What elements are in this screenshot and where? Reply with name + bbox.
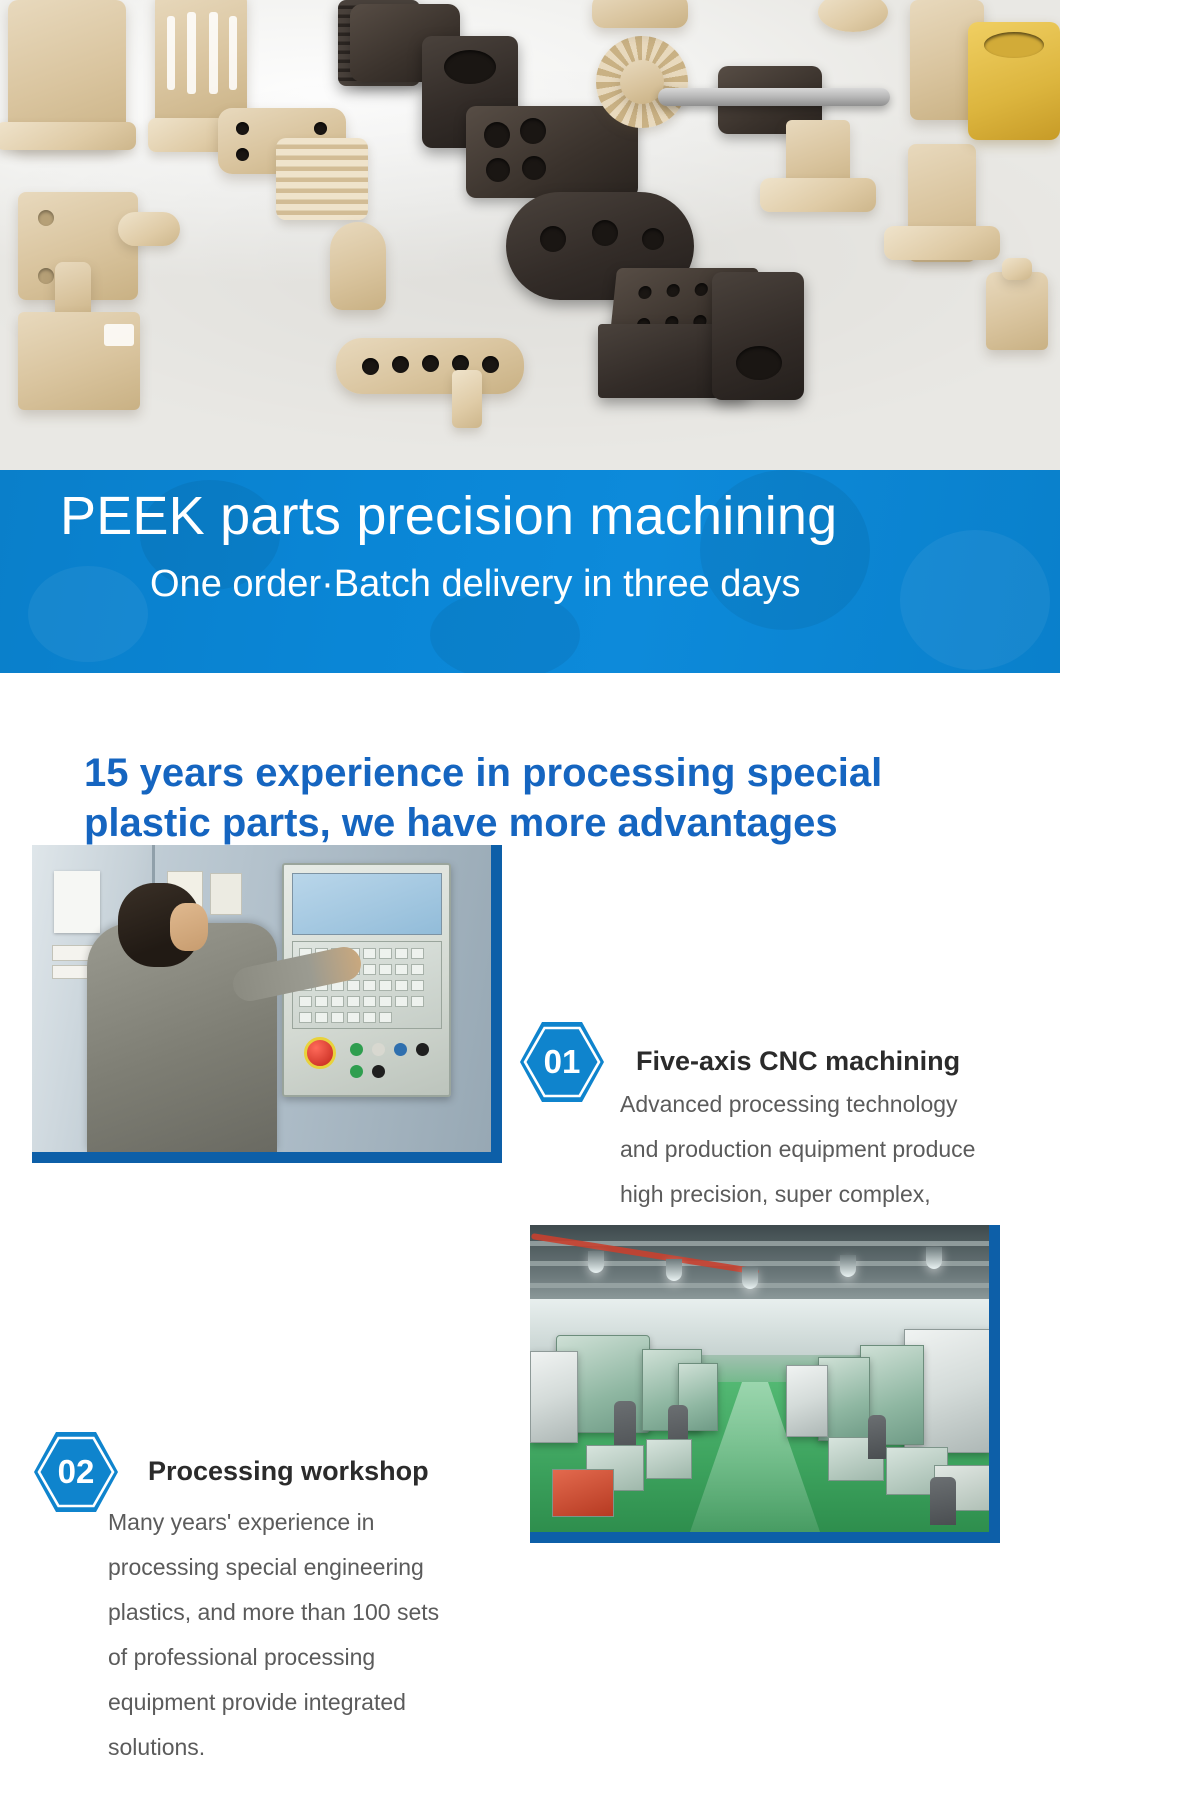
ceiling-beam-3	[530, 1283, 989, 1288]
product-detail-page: PEEK parts precision machining One order…	[0, 0, 1200, 1796]
banner-subtitle: One order·Batch delivery in three days	[150, 560, 1050, 608]
feature-02-body-line-5: equipment provide integrated	[108, 1680, 528, 1725]
cnc-black-button-2	[372, 1065, 385, 1078]
banner-ghost-1	[28, 566, 148, 662]
feature-02-body-line-3: plastics, and more than 100 sets	[108, 1590, 528, 1635]
cnc-blue-button	[394, 1043, 407, 1056]
feature-02-body-line-1: Many years' experience in	[108, 1500, 528, 1545]
part-roller-shaft	[658, 88, 890, 106]
workshop-machine-l2	[530, 1351, 578, 1443]
feature-01-number: 01	[518, 1018, 606, 1106]
workshop-cart-red	[552, 1469, 614, 1517]
ceiling-lamp-5	[926, 1247, 942, 1269]
feature-02-body-line-2: processing special engineering	[108, 1545, 528, 1590]
ceiling-lamp-2	[666, 1259, 682, 1281]
part-flanged-bushing-b-flange	[884, 226, 1000, 260]
photo1-bottom-bar	[32, 1152, 502, 1163]
cnc-screen	[292, 873, 442, 935]
workshop-machine-r4	[786, 1365, 828, 1437]
cnc-operator-face	[170, 903, 208, 951]
photo2-right-bar	[989, 1225, 1000, 1543]
feature-02-number: 02	[32, 1428, 120, 1516]
cnc-black-button	[416, 1043, 429, 1056]
part-cap-small-top	[1002, 258, 1032, 280]
part-spool-flange	[0, 122, 136, 150]
feature-01-title: Five-axis CNC machining	[636, 1046, 960, 1077]
feature-01-body-line-2: and production equipment produce	[620, 1127, 1040, 1172]
workshop-worker-r1	[930, 1477, 956, 1525]
feature-02-badge: 02	[32, 1428, 120, 1516]
feature-01-body-line-3: high precision, super complex,	[620, 1172, 1040, 1217]
part-flanged-bushing-a-flange	[760, 178, 876, 212]
headline-line-2: plastic parts, we have more advantages	[84, 798, 1044, 848]
ceiling-lamp-3	[742, 1267, 758, 1289]
cnc-operator-image	[32, 845, 491, 1152]
feature-02-body-line-6: solutions.	[108, 1725, 528, 1770]
part-bar-stem	[452, 370, 482, 428]
part-cube-nozzle	[118, 212, 180, 246]
part-bracket-l	[18, 312, 140, 410]
part-bar-six-holes	[336, 338, 524, 394]
part-manifold-block	[466, 106, 638, 198]
cnc-warn-sticker-2	[210, 873, 242, 915]
part-cap-small	[986, 272, 1048, 350]
part-cone-tip	[330, 222, 386, 310]
section-headline: 15 years experience in processing specia…	[84, 748, 1044, 848]
photo2-bottom-bar	[530, 1532, 1000, 1543]
feature-01-photo	[32, 845, 502, 1163]
feature-02-body: Many years' experience in processing spe…	[108, 1500, 528, 1770]
feature-01-body-line-1: Advanced processing technology	[620, 1082, 1040, 1127]
ceiling-lamp-1	[588, 1251, 604, 1273]
photo1-right-bar	[491, 845, 502, 1163]
hero-parts-photo	[0, 0, 1060, 472]
banner-title: PEEK parts precision machining	[60, 484, 1040, 548]
cnc-paper-sheet	[54, 871, 100, 933]
workshop-cart-l2	[646, 1439, 692, 1479]
workshop-worker-r2	[868, 1415, 886, 1459]
promo-banner: PEEK parts precision machining One order…	[0, 470, 1060, 673]
part-amber-cup	[968, 22, 1060, 140]
workshop-image	[530, 1225, 989, 1532]
part-black-sleeve-tall	[712, 272, 804, 400]
part-disc-stack	[592, 0, 688, 28]
headline-line-1: 15 years experience in processing specia…	[84, 748, 1044, 798]
feature-01-badge: 01	[518, 1018, 606, 1106]
cnc-green-button	[350, 1043, 363, 1056]
feature-02-body-line-4: of professional processing	[108, 1635, 528, 1680]
feature-02-title: Processing workshop	[148, 1456, 429, 1487]
cnc-green-button-2	[350, 1065, 363, 1078]
cnc-gray-button	[372, 1043, 385, 1056]
part-ribbed-sleeve	[276, 138, 368, 220]
feature-02-photo	[530, 1225, 1000, 1543]
cnc-emergency-stop	[304, 1037, 336, 1069]
ceiling-lamp-4	[840, 1255, 856, 1277]
